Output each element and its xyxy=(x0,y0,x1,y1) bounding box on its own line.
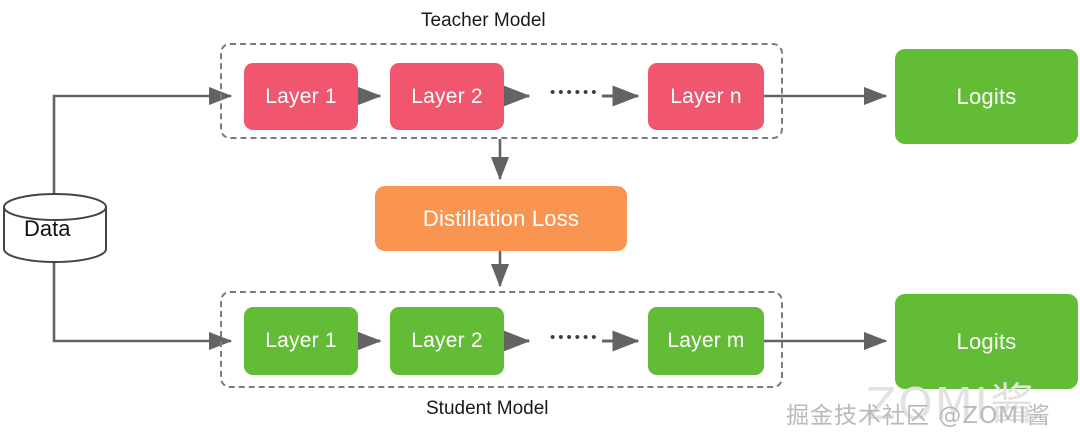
student-layer-m[interactable]: Layer m xyxy=(648,307,764,375)
edge-data-to-student xyxy=(54,261,231,341)
student-layer-1[interactable]: Layer 1 xyxy=(244,307,358,375)
student-layer-2[interactable]: Layer 2 xyxy=(390,307,504,375)
student-group-label: Student Model xyxy=(426,398,549,420)
student-ellipsis: •••••• xyxy=(550,329,600,346)
teacher-logits[interactable]: Logits xyxy=(895,49,1078,144)
edge-data-to-teacher xyxy=(54,96,231,196)
watermark-text: 掘金技术社区 @ZOMI酱 xyxy=(786,396,1051,430)
data-source-label: Data xyxy=(24,216,70,242)
teacher-layer-1[interactable]: Layer 1 xyxy=(244,63,358,130)
distillation-loss-node[interactable]: Distillation Loss xyxy=(375,186,627,251)
teacher-ellipsis: •••••• xyxy=(550,84,600,101)
teacher-group-label: Teacher Model xyxy=(421,10,546,32)
teacher-layer-2[interactable]: Layer 2 xyxy=(390,63,504,130)
teacher-layer-n[interactable]: Layer n xyxy=(648,63,764,130)
distillation-diagram: Teacher Model Layer 1 Layer 2 •••••• Lay… xyxy=(0,0,1080,436)
